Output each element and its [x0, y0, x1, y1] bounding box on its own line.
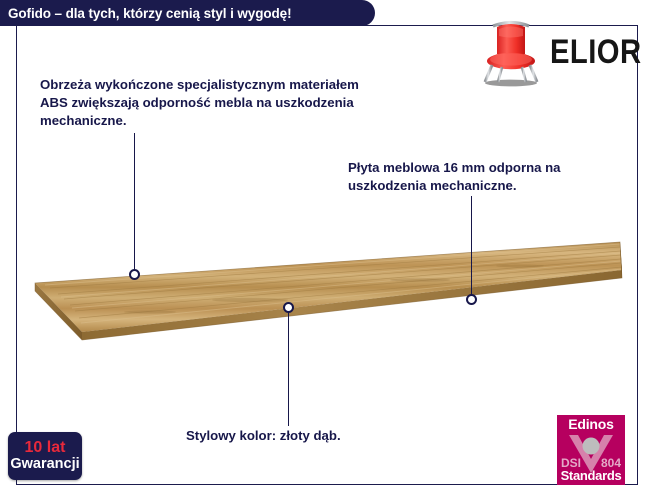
callout-color-text: Stylowy kolor: złoty dąb.	[186, 427, 486, 445]
warranty-badge-label: Gwarancji	[10, 457, 79, 472]
edinos-badge: Edinos DSI 804 Standards	[557, 415, 625, 485]
callout-marker-color	[283, 302, 294, 313]
callout-marker-edges	[129, 269, 140, 280]
wood-panel-image	[0, 228, 650, 353]
leader-line-board	[471, 196, 473, 301]
edinos-badge-title: Edinos	[557, 416, 625, 432]
brand-logo: ELIOR	[478, 16, 636, 88]
callout-edges-text: Obrzeża wykończone specjalistycznym mate…	[40, 76, 380, 131]
brand-name: ELIOR	[550, 33, 642, 72]
header-banner: Gofido – dla tych, którzy cenią styl i w…	[0, 0, 375, 26]
warranty-badge-years: 10 lat	[25, 440, 66, 456]
banner-title: Gofido – dla tych, którzy cenią styl i w…	[8, 6, 291, 21]
leader-line-edges	[134, 133, 136, 275]
leader-line-color	[288, 308, 290, 426]
warranty-badge: 10 lat Gwarancji	[8, 432, 82, 480]
edinos-badge-standards: Standards	[557, 468, 625, 483]
callout-marker-board	[466, 294, 477, 305]
red-chair-icon	[478, 16, 544, 88]
frame-notch	[27, 46, 409, 58]
callout-board-text: Płyta meblowa 16 mm odporna na uszkodzen…	[348, 159, 628, 195]
poster-canvas: Gofido – dla tych, którzy cenią styl i w…	[0, 0, 650, 494]
